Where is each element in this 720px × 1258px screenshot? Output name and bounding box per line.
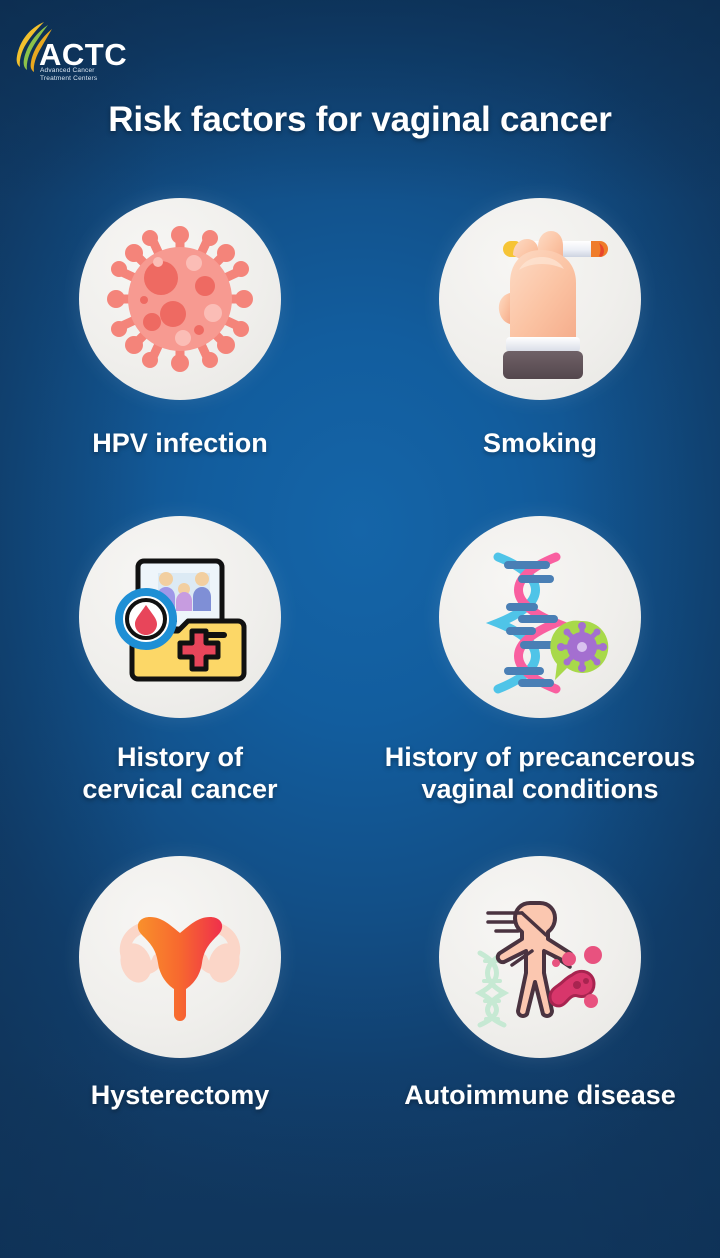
icon-circle xyxy=(79,856,281,1058)
logo-tagline-line2: Treatment Centers xyxy=(40,75,97,83)
logo-tagline: Advanced Cancer Treatment Centers xyxy=(40,67,97,84)
autoimmune-body-icon xyxy=(460,877,620,1037)
page-title: Risk factors for vaginal cancer xyxy=(0,100,720,140)
risk-factor-label: HPV infection xyxy=(92,428,268,460)
risk-factor-row: HPV infection xyxy=(0,188,720,460)
icon-circle xyxy=(439,198,641,400)
risk-factor-label: History of precancerous vaginal conditio… xyxy=(385,742,696,806)
dna-virus-icon xyxy=(460,537,620,697)
virus-icon xyxy=(95,214,265,384)
risk-factor-row: History of cervical cancer xyxy=(0,516,720,806)
risk-factor-hysterectomy: Hysterectomy xyxy=(0,856,360,1112)
infographic-poster: ACTC Advanced Cancer Treatment Centers R… xyxy=(0,0,720,1258)
icon-circle xyxy=(439,516,641,718)
logo-acronym: ACTC xyxy=(39,39,127,70)
icon-circle xyxy=(439,856,641,1058)
brand-logo: ACTC Advanced Cancer Treatment Centers xyxy=(10,20,160,82)
medical-records-folder-icon xyxy=(100,537,260,697)
risk-factor-autoimmune-disease: Autoimmune disease xyxy=(360,856,720,1112)
risk-factor-label: History of cervical cancer xyxy=(82,742,277,806)
risk-factor-label: Autoimmune disease xyxy=(404,1080,676,1112)
risk-factor-history-cervical-cancer: History of cervical cancer xyxy=(0,516,360,806)
uterus-icon xyxy=(100,877,260,1037)
risk-factor-row: Hysterectomy xyxy=(0,856,720,1112)
risk-factor-hpv-infection: HPV infection xyxy=(0,188,360,460)
risk-factor-history-precancerous-vaginal: History of precancerous vaginal conditio… xyxy=(360,516,720,806)
icon-circle xyxy=(79,198,281,400)
icon-circle xyxy=(79,516,281,718)
risk-factor-label: Smoking xyxy=(483,428,597,460)
logo-tagline-line1: Advanced Cancer xyxy=(40,67,97,75)
risk-factor-smoking: Smoking xyxy=(360,188,720,460)
risk-factor-grid: HPV infection xyxy=(0,188,720,1111)
hand-holding-cigarette-icon xyxy=(458,217,623,382)
risk-factor-label: Hysterectomy xyxy=(91,1080,270,1112)
